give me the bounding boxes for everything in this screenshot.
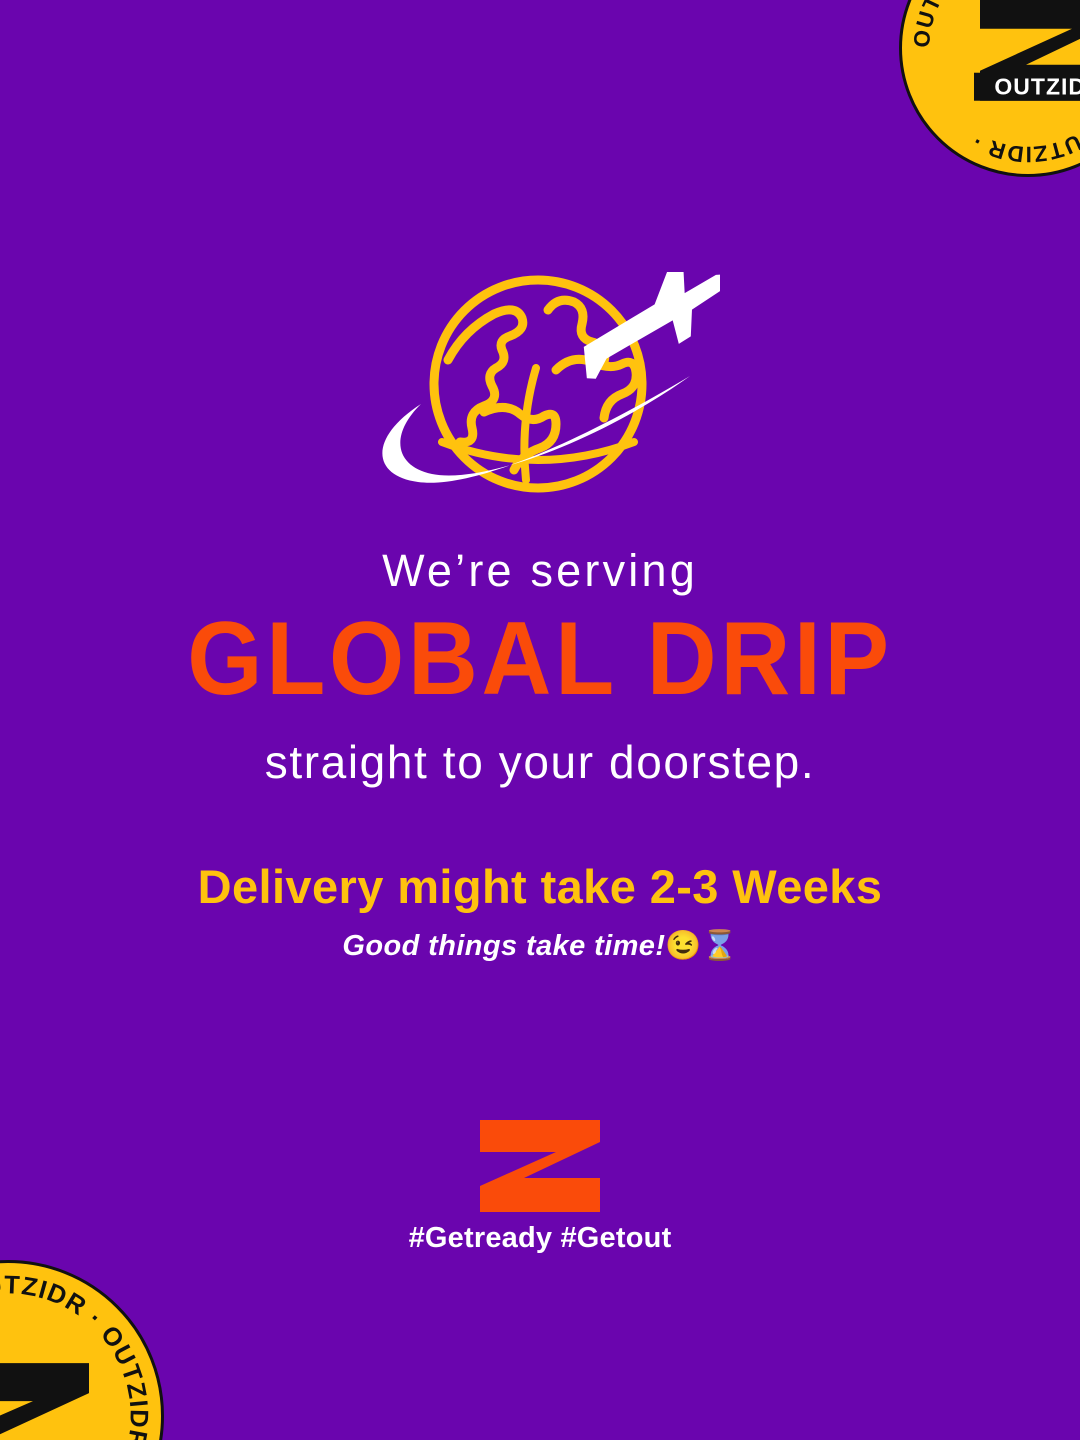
hashtags-text: #Getready #Getout [0, 1222, 1080, 1255]
subhead-text: straight to your doorstep. [0, 737, 1080, 788]
outzidr-seal-top-right: OUTZIDR · OUTZIDR · OUTZIDR · OUTZIDR · … [899, 0, 1080, 177]
eyebrow-text: We’re serving [0, 546, 1080, 596]
seal-mark-top-right: OUTZIDR [974, 0, 1080, 101]
delivery-notice: Delivery might take 2-3 Weeks [0, 861, 1080, 913]
message-block: We’re serving GLOBAL DRIP straight to yo… [0, 546, 1080, 963]
seal-mark-bottom-left: OUTZIDR [0, 1361, 93, 1440]
winking-face-icon: 😉 [665, 930, 701, 962]
hourglass-icon: ⌛ [702, 930, 738, 962]
promo-poster: OUTZIDR · OUTZIDR · OUTZIDR · OUTZIDR · … [0, 0, 1080, 1440]
headline-text: GLOBAL DRIP [38, 607, 1042, 711]
outzidr-seal-bottom-left: OUTZIDR · OUTZIDR · OUTZIDR · OUTZIDR · … [0, 1260, 164, 1440]
footer-brand: #Getready #Getout [0, 1120, 1080, 1255]
tagline: Good things take time!😉⌛ [0, 931, 1080, 963]
seal-z-glyph-bottom-left [0, 1361, 93, 1440]
globe-airplane-illustration [0, 272, 1080, 504]
outzidr-z-logo [478, 1120, 602, 1212]
tagline-text: Good things take time! [342, 930, 665, 962]
